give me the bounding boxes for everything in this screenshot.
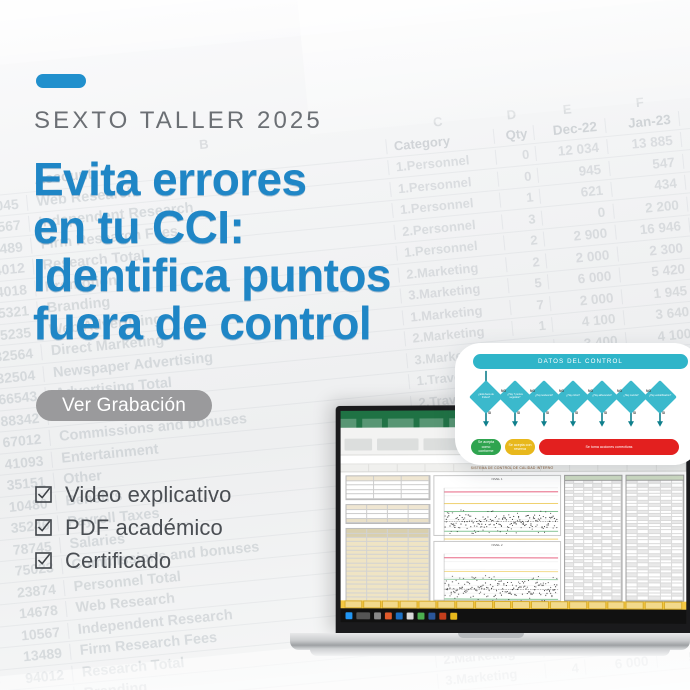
branch-no-1: NO xyxy=(501,389,506,393)
blue-dash-accent xyxy=(36,74,86,88)
branch-yes-4: SI xyxy=(575,411,578,415)
sheet-row xyxy=(346,494,429,499)
ver-grabacion-label: Ver Grabación xyxy=(62,395,186,417)
wm-hdr-category: Category xyxy=(385,129,494,154)
taskbar-app-icon[interactable] xyxy=(407,612,414,619)
wm-col-a: A xyxy=(0,154,24,175)
decision-label-2: ¿Hay 7 puntos seguidos? xyxy=(503,385,527,409)
control-limits-table xyxy=(346,504,431,524)
windows-taskbar[interactable] xyxy=(341,608,687,624)
decision-label-5: ¿Hay adherencia? xyxy=(590,385,614,409)
branch-yes-3: SI xyxy=(546,411,549,415)
data-table-right xyxy=(626,475,685,602)
data-tables-panel xyxy=(564,475,684,602)
headline-line-4: fuera de control xyxy=(33,299,503,347)
control-chart-1: NIVEL 1 xyxy=(433,475,561,536)
light-streak-top xyxy=(0,0,690,76)
wm-col-c: C xyxy=(383,109,492,134)
data-table-left xyxy=(564,475,622,602)
checkbox-checked-icon xyxy=(35,519,52,536)
wm-hdr-qty: Qty xyxy=(493,125,534,144)
taskbar-word-icon[interactable] xyxy=(428,612,435,619)
headline-line-1: Evita errores xyxy=(33,155,503,203)
taskbar-powerpoint-icon[interactable] xyxy=(439,612,446,619)
excel-worksheet: NIVEL 1 xyxy=(341,472,687,602)
kicker-text: SEXTO TALLER 2025 xyxy=(34,107,323,135)
branch-no-5: NO xyxy=(617,389,622,393)
checkbox-checked-icon xyxy=(35,486,52,503)
outcome-accept-reserva: Se acepta con reserva xyxy=(505,439,535,455)
sheet-row xyxy=(346,519,429,524)
branch-yes-6: SI xyxy=(633,411,636,415)
poster-canvas: A B C D E F G Account Category Qty Dec-2… xyxy=(0,0,690,690)
branch-yes-5: SI xyxy=(604,411,607,415)
list-item: PDF académico xyxy=(35,511,231,544)
decision-label-7: ¿Hay estratificación? xyxy=(648,385,672,409)
control-chart-1-title: NIVEL 1 xyxy=(434,477,560,481)
decision-label-6: ¿Hay mezcla? xyxy=(619,385,643,409)
decision-label-4: ¿Hay ciclos? xyxy=(561,385,585,409)
wm-col-f: F xyxy=(602,91,677,113)
outcome-accept-conforme: Se acepta como conforme xyxy=(471,439,501,455)
branch-yes-7: SI xyxy=(662,411,665,415)
branch-no-2: NO xyxy=(530,389,535,393)
popup-flow-diagram: ¿Está fuera de límites?¿Hay 7 puntos seg… xyxy=(469,369,690,457)
branch-no-6: NO xyxy=(646,389,651,393)
wm-hdr-p3: Feb-23 xyxy=(678,104,690,126)
spreadsheet-title: SISTEMA DE CONTROL DE CALIDAD INTERNO xyxy=(341,466,687,471)
control-chart-2-svg xyxy=(434,547,560,601)
checkbox-checked-icon xyxy=(35,552,52,569)
popup-card-title: DATOS DEL CONTROL xyxy=(473,354,688,369)
wm-hdr-p2: Jan-23 xyxy=(604,111,679,133)
features-list: Video explicativo PDF académico Certific… xyxy=(35,478,231,577)
wm-hdr-p1: Dec-22 xyxy=(533,118,606,140)
control-chart-2-title: NIVEL 2 xyxy=(434,542,560,546)
measurements-table xyxy=(346,528,431,601)
decision-label-3: ¿Hay tendencia? xyxy=(532,385,556,409)
laptop-base-foot xyxy=(310,649,670,656)
branch-no-4: NO xyxy=(588,389,593,393)
list-item: Certificado xyxy=(35,544,231,577)
list-item: Video explicativo xyxy=(35,478,231,511)
page-title: Evita errores en tu CCI: Identifica punt… xyxy=(33,155,503,347)
taskbar-excel-icon[interactable] xyxy=(418,612,425,619)
wm-col-d: D xyxy=(491,105,532,124)
wm-col-g: G xyxy=(676,84,690,106)
control-flow-popup-card: DATOS DEL CONTROL xyxy=(455,343,690,465)
control-params-table xyxy=(346,475,431,500)
feature-label: Video explicativo xyxy=(65,482,231,508)
branch-yes-2: SI xyxy=(517,411,520,415)
headline-line-3: Identifica puntos xyxy=(33,251,503,299)
ver-grabacion-button[interactable]: Ver Grabación xyxy=(36,390,212,421)
branch-yes-1: SI xyxy=(488,411,491,415)
branch-no-3: NO xyxy=(559,389,564,393)
wm-col-e: E xyxy=(531,98,604,120)
feature-label: PDF académico xyxy=(65,515,223,541)
taskbar-folder-icon[interactable] xyxy=(396,612,403,619)
taskbar-start-icon[interactable] xyxy=(346,612,353,619)
worksheet-left-panel xyxy=(346,475,431,601)
taskbar-task-view-icon[interactable] xyxy=(374,612,381,619)
feature-label: Certificado xyxy=(65,548,171,574)
taskbar-notes-icon[interactable] xyxy=(450,612,457,619)
laptop-base xyxy=(290,633,690,650)
headline-line-2: en tu CCI: xyxy=(33,203,503,251)
control-chart-2: NIVEL 2 xyxy=(433,540,561,601)
outcome-corrective-actions: Se toma acciones correctivas xyxy=(539,439,679,455)
taskbar-browser-icon[interactable] xyxy=(385,612,392,619)
decision-label-1: ¿Está fuera de límites? xyxy=(474,385,498,409)
light-streak-upper-right xyxy=(292,0,690,134)
control-charts-panel: NIVEL 1 xyxy=(433,475,561,601)
taskbar-search-icon[interactable] xyxy=(356,612,370,619)
